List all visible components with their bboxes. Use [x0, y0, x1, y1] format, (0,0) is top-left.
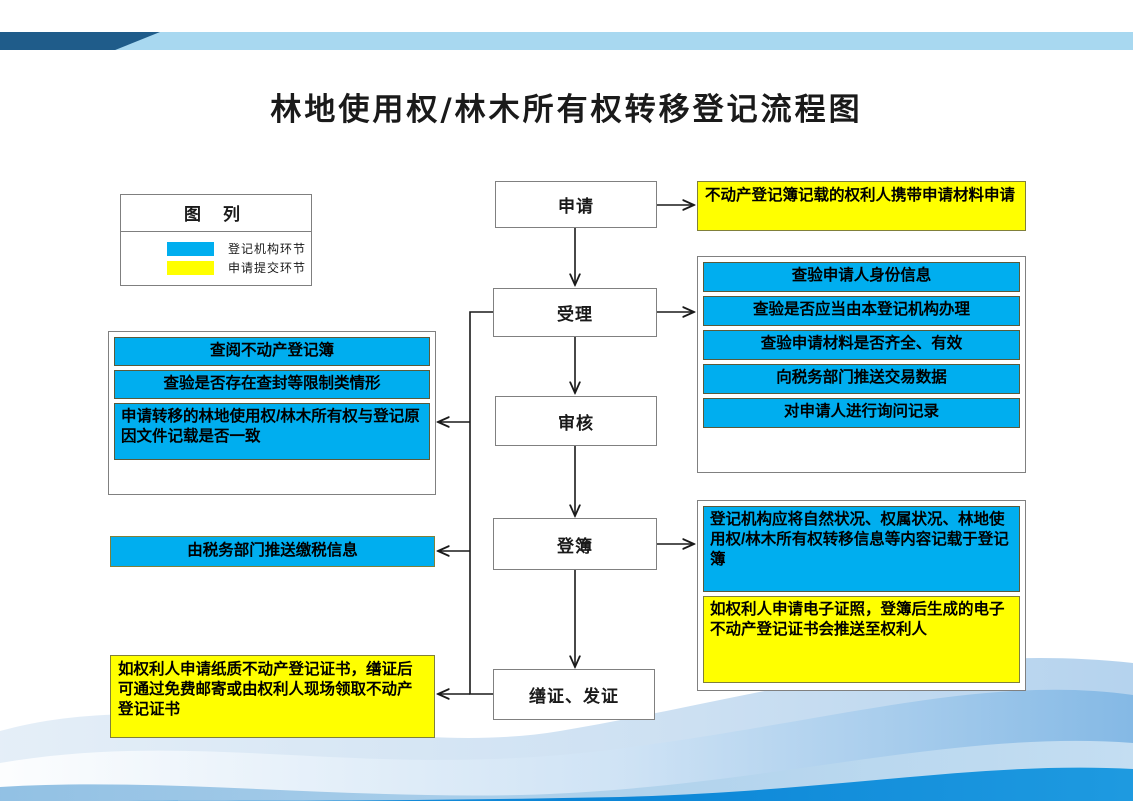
- accept-detail-chip-3[interactable]: 查验申请材料是否齐全、有效: [703, 330, 1020, 360]
- flow-node-issue-label: 缮证、发证: [529, 682, 619, 707]
- flow-node-issue[interactable]: 缮证、发证: [493, 669, 655, 720]
- accept-detail-text-5: 对申请人进行询问记录: [784, 403, 939, 420]
- review-detail-text-1: 查阅不动产登记簿: [210, 342, 334, 359]
- issue-detail-text: 如权利人申请纸质不动产登记证书，缮证后可通过免费邮寄或由权利人现场领取不动产登记…: [118, 661, 413, 718]
- accept-detail-text-1: 查验申请人身份信息: [792, 267, 932, 284]
- legend-item-applicant: 申请提交环节: [121, 258, 311, 277]
- flow-node-apply[interactable]: 申请: [495, 181, 657, 228]
- review-detail-text-3: 申请转移的林地使用权/林木所有权与登记原因文件记载是否一致: [121, 408, 420, 445]
- accept-detail-text-4: 向税务部门推送交易数据: [776, 369, 947, 386]
- apply-detail-text: 不动产登记簿记载的权利人携带申请材料申请: [705, 187, 1015, 204]
- flow-node-record[interactable]: 登簿: [493, 518, 657, 570]
- slide-canvas: 林地使用权/林木所有权转移登记流程图 图 列 登记机构环节 申请提交环节: [0, 0, 1133, 801]
- accept-detail-chip-2[interactable]: 查验是否应当由本登记机构办理: [703, 296, 1020, 326]
- accept-detail-chip-4[interactable]: 向税务部门推送交易数据: [703, 364, 1020, 394]
- review-detail-chip-2[interactable]: 查验是否存在查封等限制类情形: [114, 370, 430, 399]
- banner-light-bar: [0, 32, 1133, 50]
- legend-label-applicant: 申请提交环节: [228, 259, 306, 276]
- review-detail-text-2: 查验是否存在查封等限制类情形: [163, 375, 380, 392]
- flow-node-accept-label: 受理: [557, 300, 593, 325]
- legend-label-agency: 登记机构环节: [228, 240, 306, 257]
- legend-body: 登记机构环节 申请提交环节: [121, 232, 311, 285]
- flow-node-accept[interactable]: 受理: [493, 288, 657, 337]
- legend-swatch-agency: [167, 242, 214, 256]
- record-detail-text-2: 如权利人申请电子证照，登簿后生成的电子不动产登记证书会推送至权利人: [710, 601, 1005, 638]
- accept-detail-text-2: 查验是否应当由本登记机构办理: [753, 301, 970, 318]
- issue-detail-chip[interactable]: 如权利人申请纸质不动产登记证书，缮证后可通过免费邮寄或由权利人现场领取不动产登记…: [110, 655, 435, 738]
- flow-node-review[interactable]: 审核: [495, 396, 657, 446]
- accept-detail-text-3: 查验申请材料是否齐全、有效: [761, 335, 963, 352]
- record-detail-text-1: 登记机构应将自然状况、权属状况、林地使用权/林木所有权转移信息等内容记载于登记簿: [710, 511, 1009, 568]
- accept-detail-chip-5[interactable]: 对申请人进行询问记录: [703, 398, 1020, 428]
- record-detail-panel: 登记机构应将自然状况、权属状况、林地使用权/林木所有权转移信息等内容记载于登记簿…: [697, 500, 1026, 691]
- legend-swatch-applicant: [167, 261, 214, 275]
- review-detail-chip-1[interactable]: 查阅不动产登记簿: [114, 337, 430, 366]
- accept-detail-chip-1[interactable]: 查验申请人身份信息: [703, 262, 1020, 292]
- review-detail-panel: 查阅不动产登记簿 查验是否存在查封等限制类情形 申请转移的林地使用权/林木所有权…: [108, 331, 436, 495]
- legend-item-agency: 登记机构环节: [121, 239, 311, 258]
- page-title: 林地使用权/林木所有权转移登记流程图: [0, 84, 1133, 129]
- record-left-chip[interactable]: 由税务部门推送缴税信息: [110, 536, 435, 567]
- accept-detail-panel: 查验申请人身份信息 查验是否应当由本登记机构办理 查验申请材料是否齐全、有效 向…: [697, 256, 1026, 473]
- record-detail-chip-1[interactable]: 登记机构应将自然状况、权属状况、林地使用权/林木所有权转移信息等内容记载于登记簿: [703, 506, 1020, 592]
- apply-detail-chip[interactable]: 不动产登记簿记载的权利人携带申请材料申请: [697, 181, 1026, 231]
- flow-node-record-label: 登簿: [557, 532, 593, 557]
- record-left-text: 由税务部门推送缴税信息: [187, 541, 358, 561]
- review-detail-chip-3[interactable]: 申请转移的林地使用权/林木所有权与登记原因文件记载是否一致: [114, 403, 430, 460]
- record-detail-chip-2[interactable]: 如权利人申请电子证照，登簿后生成的电子不动产登记证书会推送至权利人: [703, 596, 1020, 683]
- legend-box: 图 列 登记机构环节 申请提交环节: [120, 194, 312, 286]
- flow-node-apply-label: 申请: [558, 192, 594, 217]
- legend-title: 图 列: [121, 195, 311, 232]
- flow-node-review-label: 审核: [558, 409, 594, 434]
